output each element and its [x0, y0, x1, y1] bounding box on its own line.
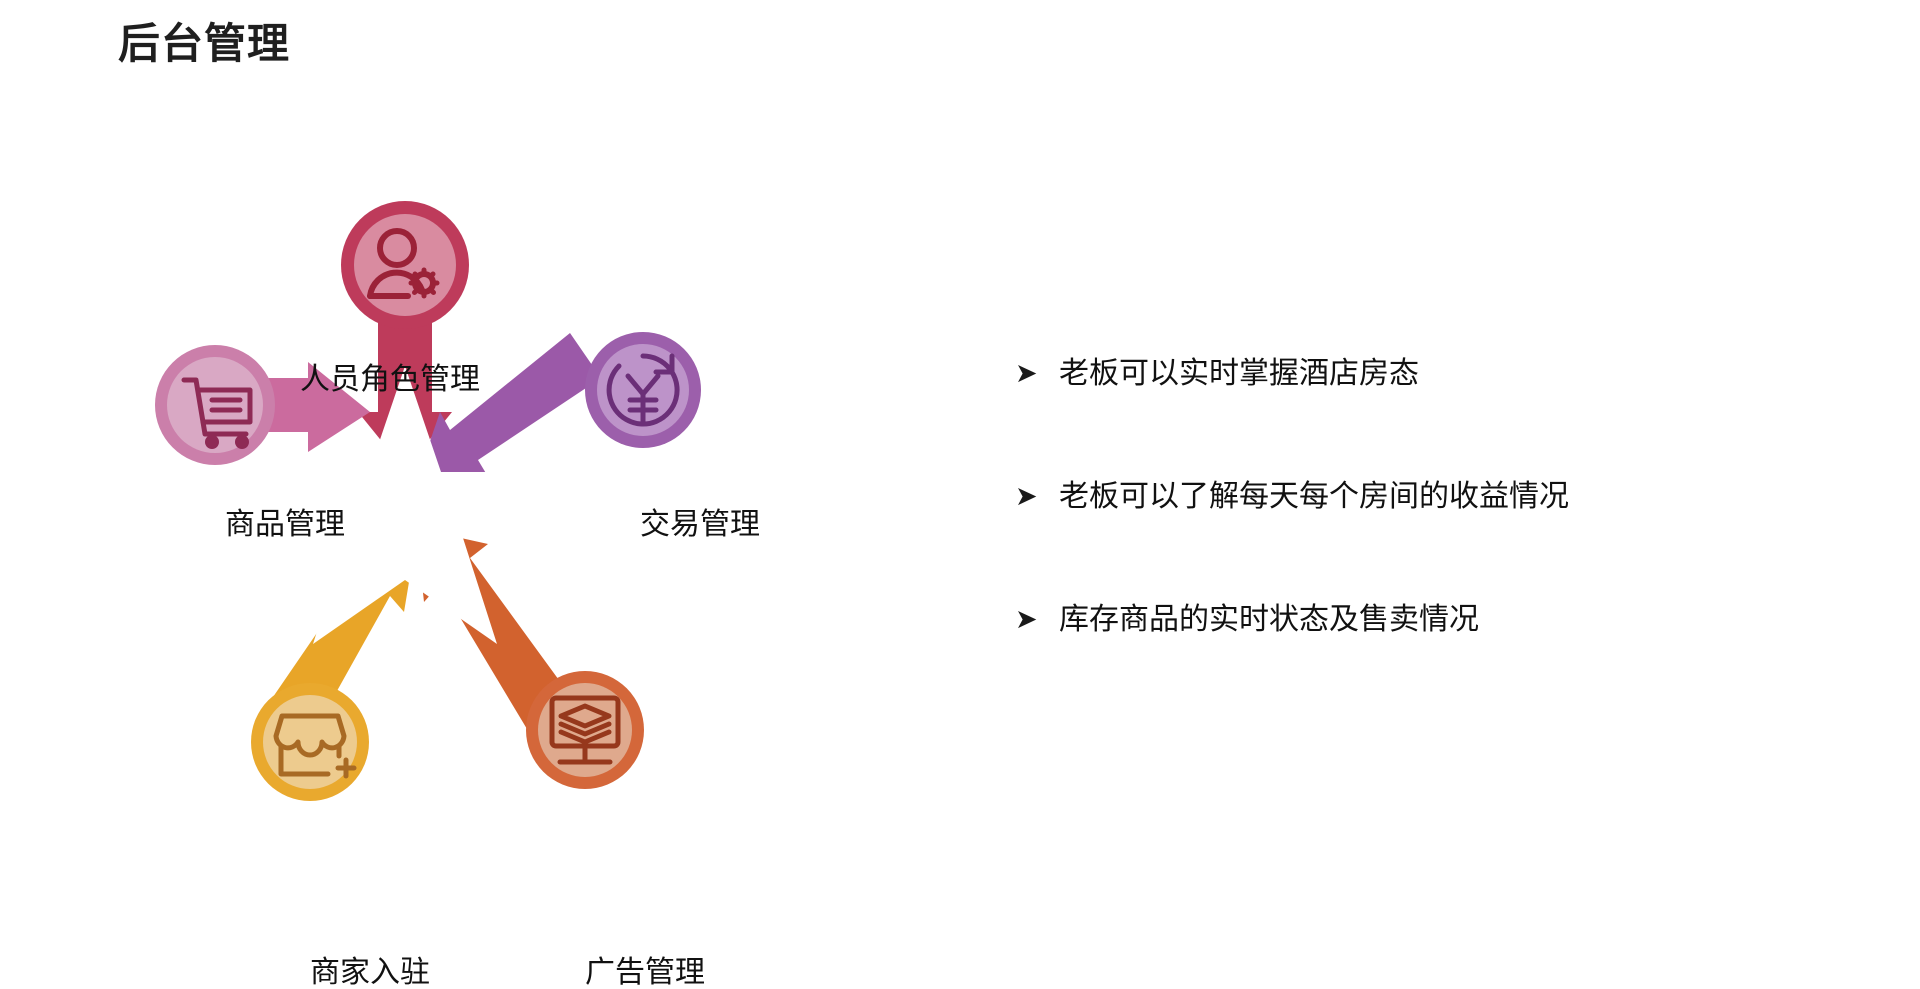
list-item-text: 老板可以了解每天每个房间的收益情况 [1059, 478, 1569, 516]
node-circle-advertisement[interactable] [526, 671, 644, 789]
node-circle-transaction[interactable] [585, 332, 701, 448]
node-circle-merchant-onboarding[interactable] [251, 683, 369, 801]
node-label-merchant-onboarding: 商家入驻 [310, 958, 430, 988]
node-label-product: 商品管理 [225, 510, 345, 540]
list-item-text: 库存商品的实时状态及售卖情况 [1059, 601, 1479, 639]
list-item-text: 老板可以实时掌握酒店房态 [1059, 355, 1419, 393]
arrow-transaction [416, 333, 601, 482]
node-label-advertisement: 广告管理 [585, 958, 705, 988]
arrow-bullet-icon: ➤ [1015, 355, 1059, 393]
node-circle-product[interactable] [155, 345, 275, 465]
arrow-bullet-icon: ➤ [1015, 601, 1059, 639]
node-label-personnel-role: 人员角色管理 [300, 365, 480, 395]
list-item: ➤ 老板可以了解每天每个房间的收益情况 [1015, 478, 1815, 516]
backend-management-diagram: 人员角色管理 商品管理 交易管理 商家入驻 广告管理 [60, 150, 880, 890]
feature-bullet-list: ➤ 老板可以实时掌握酒店房态 ➤ 老板可以了解每天每个房间的收益情况 ➤ 库存商… [1015, 355, 1815, 639]
node-label-transaction: 交易管理 [640, 510, 760, 540]
arrow-bullet-icon: ➤ [1015, 478, 1059, 516]
node-circle-personnel-role[interactable] [341, 201, 469, 329]
list-item: ➤ 库存商品的实时状态及售卖情况 [1015, 601, 1815, 639]
list-item: ➤ 老板可以实时掌握酒店房态 [1015, 355, 1815, 393]
page-title: 后台管理 [118, 10, 290, 71]
